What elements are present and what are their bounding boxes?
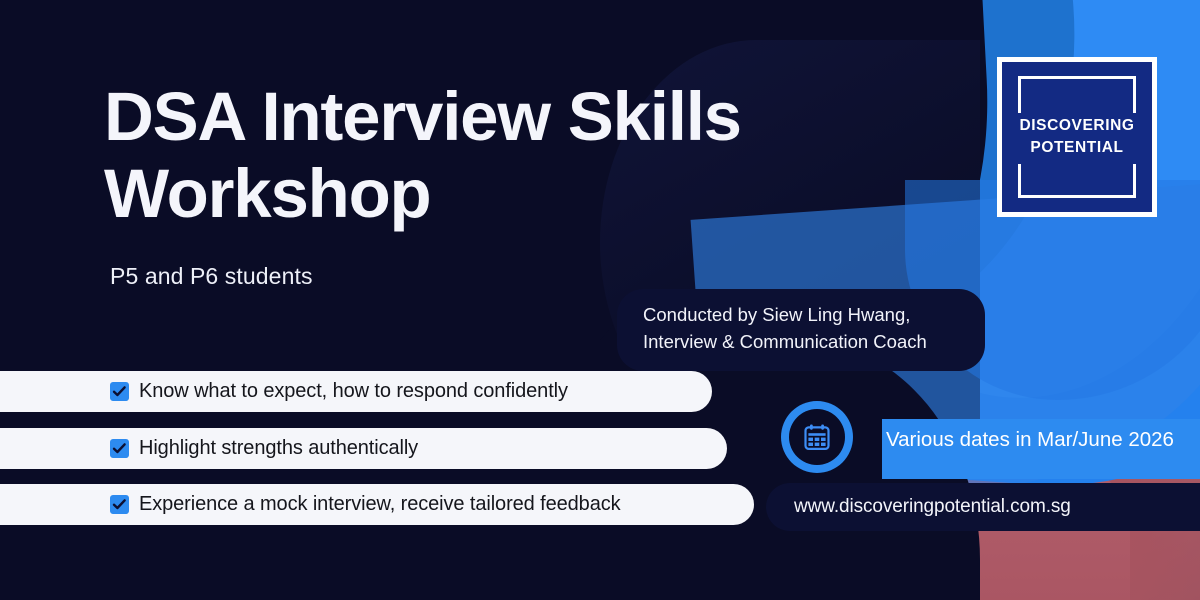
checkbox-checked-icon xyxy=(110,495,129,514)
presenter-line-2: Interview & Communication Coach xyxy=(643,329,963,356)
title-line-2: Workshop xyxy=(104,155,864,232)
event-banner: DISCOVERING POTENTIAL DSA Interview Skil… xyxy=(0,0,1200,600)
calendar-icon xyxy=(789,409,845,465)
benefit-item: Experience a mock interview, receive tai… xyxy=(0,484,754,525)
website-bar[interactable]: www.discoveringpotential.com.sg xyxy=(766,483,1200,531)
benefit-label: Experience a mock interview, receive tai… xyxy=(139,493,621,516)
page-subtitle: P5 and P6 students xyxy=(110,263,313,290)
benefit-label: Know what to expect, how to respond conf… xyxy=(139,380,568,403)
checkbox-checked-icon xyxy=(110,382,129,401)
logo-line-2: POTENTIAL xyxy=(1002,137,1152,159)
website-url[interactable]: www.discoveringpotential.com.sg xyxy=(794,496,1071,518)
date-label: Various dates in Mar/June 2026 xyxy=(882,419,1200,479)
page-title: DSA Interview Skills Workshop xyxy=(104,78,864,233)
benefit-label: Highlight strengths authentically xyxy=(139,437,418,460)
calendar-badge xyxy=(781,401,853,473)
benefit-item: Know what to expect, how to respond conf… xyxy=(0,371,712,412)
checkbox-checked-icon xyxy=(110,439,129,458)
benefit-item: Highlight strengths authentically xyxy=(0,428,727,469)
title-line-1: DSA Interview Skills xyxy=(104,78,864,155)
logo-line-1: DISCOVERING xyxy=(1002,115,1152,137)
presenter-line-1: Conducted by Siew Ling Hwang, xyxy=(643,302,963,329)
presenter-box: Conducted by Siew Ling Hwang, Interview … xyxy=(617,289,985,371)
brand-logo: DISCOVERING POTENTIAL xyxy=(997,57,1157,217)
logo-text: DISCOVERING POTENTIAL xyxy=(1002,115,1152,159)
